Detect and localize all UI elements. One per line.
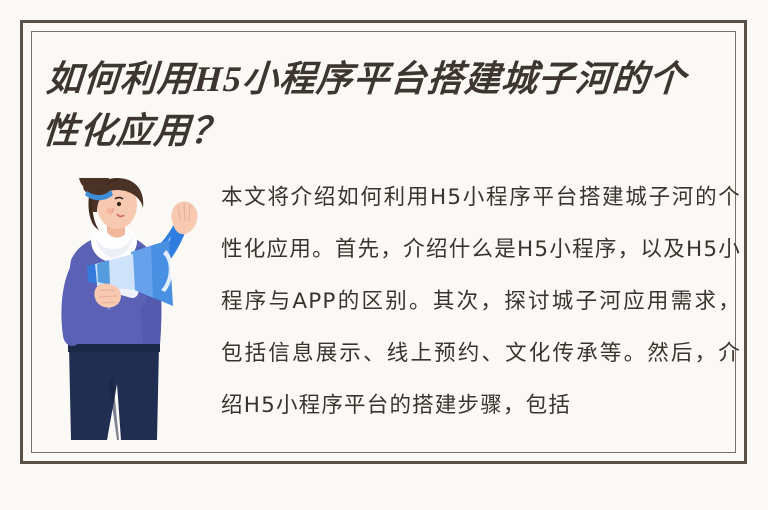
illustration-woman-with-megaphone bbox=[47, 178, 207, 458]
eye-shape bbox=[117, 202, 121, 206]
article-body: 本文将介绍如何利用H5小程序平台搭建城子河的个性化应用。首先，介绍什么是H5小程… bbox=[221, 172, 741, 472]
article-card: 如何利用H5小程序平台搭建城子河的个性化应用？ bbox=[0, 0, 768, 510]
page-title: 如何利用H5小程序平台搭建城子河的个性化应用？ bbox=[41, 53, 720, 157]
